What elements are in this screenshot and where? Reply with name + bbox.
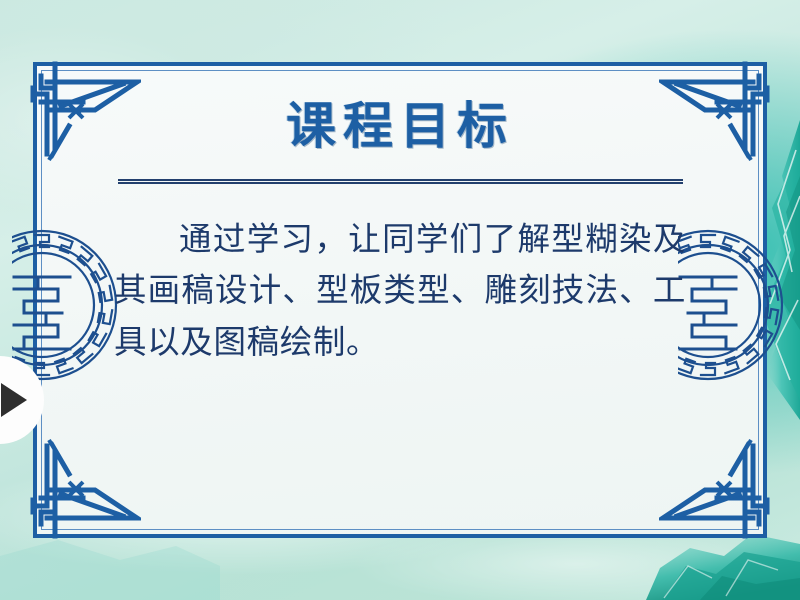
slide-content: 课程目标 通过学习，让同学们了解型糊染及其画稿设计、型板类型、雕刻技法、工具以及… [112, 96, 688, 368]
slide-canvas: 课程目标 通过学习，让同学们了解型糊染及其画稿设计、型板类型、雕刻技法、工具以及… [0, 0, 800, 600]
meander-seal-medallion-icon [12, 225, 122, 385]
double-rule-divider [118, 179, 683, 184]
play-triangle-icon [1, 383, 27, 417]
chinese-lattice-corner-icon [659, 430, 775, 546]
chinese-lattice-corner-icon [25, 430, 141, 546]
objective-body-text: 通过学习，让同学们了解型糊染及其画稿设计、型板类型、雕刻技法、工具以及图稿绘制。 [112, 214, 688, 368]
meander-seal-medallion-icon [678, 225, 788, 385]
page-title: 课程目标 [112, 96, 688, 155]
